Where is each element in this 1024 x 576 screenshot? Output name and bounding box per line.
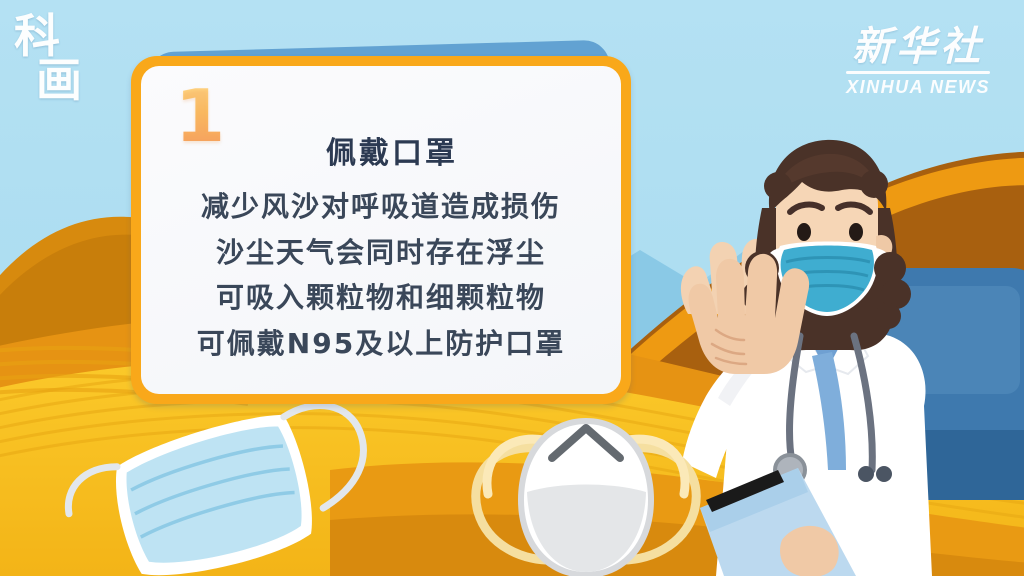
n95-respirator — [476, 418, 696, 576]
kehua-logo-char-2: 画 — [14, 58, 124, 102]
kehua-logo: 科 画 — [14, 14, 124, 106]
info-card-face: 1 佩戴口罩 减少风沙对呼吸道造成损伤 沙尘天气会同时存在浮尘 可吸入颗粒物和细… — [141, 66, 621, 394]
card-line-4: 可佩戴N95及以上防护口罩 — [141, 321, 621, 367]
card-body: 减少风沙对呼吸道造成损伤 沙尘天气会同时存在浮尘 可吸入颗粒物和细颗粒物 可佩戴… — [141, 184, 621, 367]
xinhua-watermark-cn: 新华社 — [846, 26, 990, 68]
surgical-mask — [57, 393, 384, 576]
card-line-2: 沙尘天气会同时存在浮尘 — [141, 230, 621, 276]
info-card: 1 佩戴口罩 减少风沙对呼吸道造成损伤 沙尘天气会同时存在浮尘 可吸入颗粒物和细… — [131, 56, 631, 404]
xinhua-watermark: 新华社 XINHUA NEWS — [846, 26, 990, 98]
illustration-poster: 1 佩戴口罩 减少风沙对呼吸道造成损伤 沙尘天气会同时存在浮尘 可吸入颗粒物和细… — [0, 0, 1024, 576]
card-line-1: 减少风沙对呼吸道造成损伤 — [141, 184, 621, 230]
xinhua-watermark-rule — [846, 71, 990, 74]
kehua-logo-char-1: 科 — [14, 14, 124, 58]
card-title: 佩戴口罩 — [141, 128, 621, 172]
card-line-3: 可吸入颗粒物和细颗粒物 — [141, 275, 621, 321]
xinhua-watermark-en: XINHUA NEWS — [846, 77, 990, 98]
